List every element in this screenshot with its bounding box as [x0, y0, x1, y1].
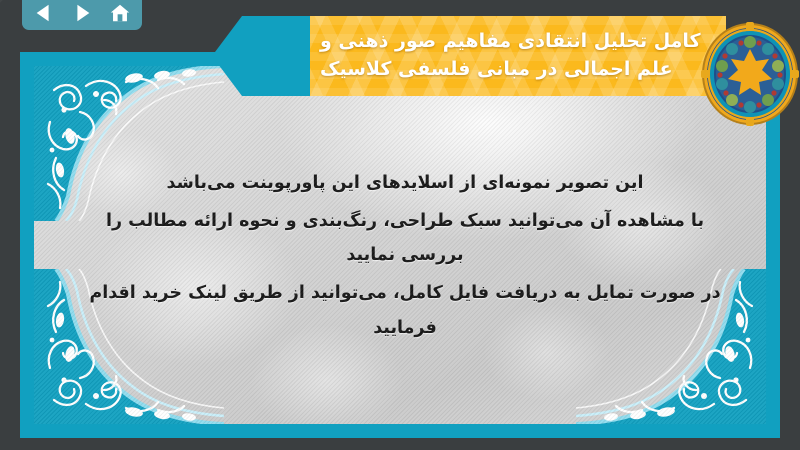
- body-line-2: با مشاهده آن می‌توانید سبک طراحی، رنگ‌بن…: [74, 204, 736, 272]
- slide-content-area: این تصویر نمونه‌ای از اسلایدهای این پاور…: [34, 66, 766, 424]
- title-line-2: علم اجمالی در مبانی فلسفی کلاسیک: [320, 56, 673, 84]
- title-text: کامل تحلیل انتقادی مفاهیم صور ذهنی و علم…: [310, 16, 726, 96]
- prev-button[interactable]: [32, 1, 56, 25]
- title-banner-background: کامل تحلیل انتقادی مفاهیم صور ذهنی و علم…: [310, 16, 726, 96]
- navigation-bar: [22, 0, 142, 30]
- slide-body-text: این تصویر نمونه‌ای از اسلایدهای این پاور…: [74, 166, 736, 349]
- banner-pennant-shape: [212, 16, 322, 96]
- slide-frame: این تصویر نمونه‌ای از اسلایدهای این پاور…: [20, 52, 780, 438]
- title-banner: کامل تحلیل انتقادی مفاهیم صور ذهنی و علم…: [212, 16, 784, 96]
- body-line-1: این تصویر نمونه‌ای از اسلایدهای این پاور…: [74, 166, 736, 200]
- persian-medallion-icon: [700, 22, 800, 126]
- title-line-1: کامل تحلیل انتقادی مفاهیم صور ذهنی و: [320, 28, 701, 56]
- slide-stage: این تصویر نمونه‌ای از اسلایدهای این پاور…: [0, 0, 800, 450]
- next-button[interactable]: [70, 1, 94, 25]
- body-line-3: در صورت تمایل به دریافت فایل کامل، می‌تو…: [74, 276, 736, 344]
- home-button[interactable]: [108, 1, 132, 25]
